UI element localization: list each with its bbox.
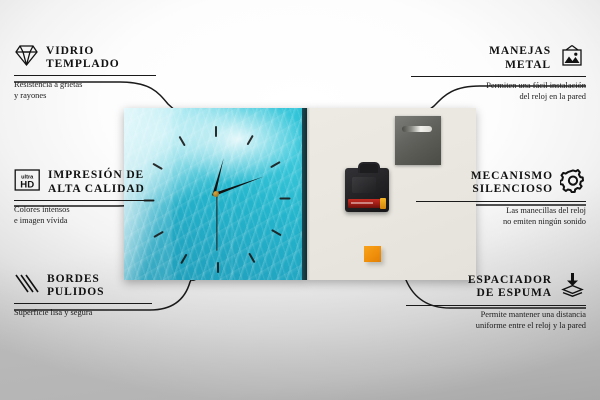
callout-title: MANEJAS METAL — [489, 45, 551, 72]
second-hand — [216, 195, 217, 251]
callout-bordes-pulidos[interactable]: BORDES PULIDOS Superficie lisa y segura — [14, 272, 152, 318]
clock-tick — [217, 262, 219, 273]
minute-hand — [214, 174, 264, 196]
callout-subtitle: Superficie lisa y segura — [14, 307, 152, 318]
foam-spacer-icon — [559, 272, 586, 302]
polished-edges-icon — [14, 272, 40, 300]
callout-header: ultra HD IMPRESIÓN DE ALTA CALIDAD — [14, 168, 154, 197]
callout-header: MANEJAS METAL — [411, 44, 586, 73]
callout-subtitle: Las manecillas del reloj no emiten ningú… — [416, 205, 586, 227]
clock-pivot — [213, 191, 219, 197]
callout-title: BORDES PULIDOS — [47, 273, 104, 300]
callout-subtitle: Permite mantener una distancia uniforme … — [406, 309, 586, 331]
clock-mechanism — [345, 168, 389, 212]
callout-vidrio-templado[interactable]: VIDRIO TEMPLADO Resistencia a grietas y … — [14, 44, 156, 101]
callout-rule — [14, 303, 152, 304]
callout-header: MECANISMO SILENCIOSO — [416, 168, 586, 198]
clock-tick — [248, 253, 255, 264]
callout-rule — [411, 76, 586, 77]
callout-title: VIDRIO TEMPLADO — [46, 45, 120, 72]
clock-tick — [178, 136, 185, 147]
svg-text:HD: HD — [20, 179, 34, 190]
callout-rule — [14, 200, 154, 201]
callout-title: IMPRESIÓN DE ALTA CALIDAD — [48, 169, 145, 196]
clock-tick — [215, 126, 217, 137]
callout-subtitle: Permiten una fácil instalación del reloj… — [411, 80, 586, 102]
callout-subtitle: Resistencia a grietas y rayones — [14, 79, 156, 101]
hanger-slot — [402, 126, 432, 132]
clock-tick — [279, 198, 290, 200]
wall-frame-icon — [558, 44, 586, 73]
battery-terminal — [380, 198, 386, 209]
clock-tick — [270, 161, 281, 168]
callout-title: MECANISMO SILENCIOSO — [471, 170, 553, 197]
mechanism-detail — [352, 177, 376, 193]
callout-rule — [406, 305, 586, 306]
infographic-canvas: VIDRIO TEMPLADO Resistencia a grietas y … — [0, 0, 600, 400]
foam-spacer — [364, 246, 381, 262]
clock-tick — [246, 135, 253, 146]
callout-subtitle: Colores intensos e imagen vívida — [14, 204, 154, 226]
mechanism-tab — [358, 162, 380, 173]
callout-header: ESPACIADOR DE ESPUMA — [406, 272, 586, 302]
clock-tick — [153, 231, 164, 238]
callout-title: ESPACIADOR DE ESPUMA — [468, 274, 552, 301]
callout-rule — [14, 75, 156, 76]
callout-mecanismo-silencioso[interactable]: MECANISMO SILENCIOSO Las manecillas del … — [416, 168, 586, 227]
diamond-icon — [14, 44, 39, 72]
callout-impresion-alta-calidad[interactable]: ultra HD IMPRESIÓN DE ALTA CALIDAD Color… — [14, 168, 154, 226]
callout-rule — [416, 201, 586, 202]
clock-tick — [271, 229, 282, 236]
battery — [348, 199, 381, 208]
gear-icon — [560, 168, 586, 198]
clock-tick — [180, 254, 187, 265]
callout-header: VIDRIO TEMPLADO — [14, 44, 156, 72]
callout-espaciador-espuma[interactable]: ESPACIADOR DE ESPUMA Permite mantener un… — [406, 272, 586, 331]
callout-header: BORDES PULIDOS — [14, 272, 152, 300]
callout-manejas-metal[interactable]: MANEJAS METAL Permiten una fácil instala… — [411, 44, 586, 102]
ultra-hd-icon: ultra HD — [14, 168, 41, 197]
metal-hanger — [395, 116, 441, 165]
